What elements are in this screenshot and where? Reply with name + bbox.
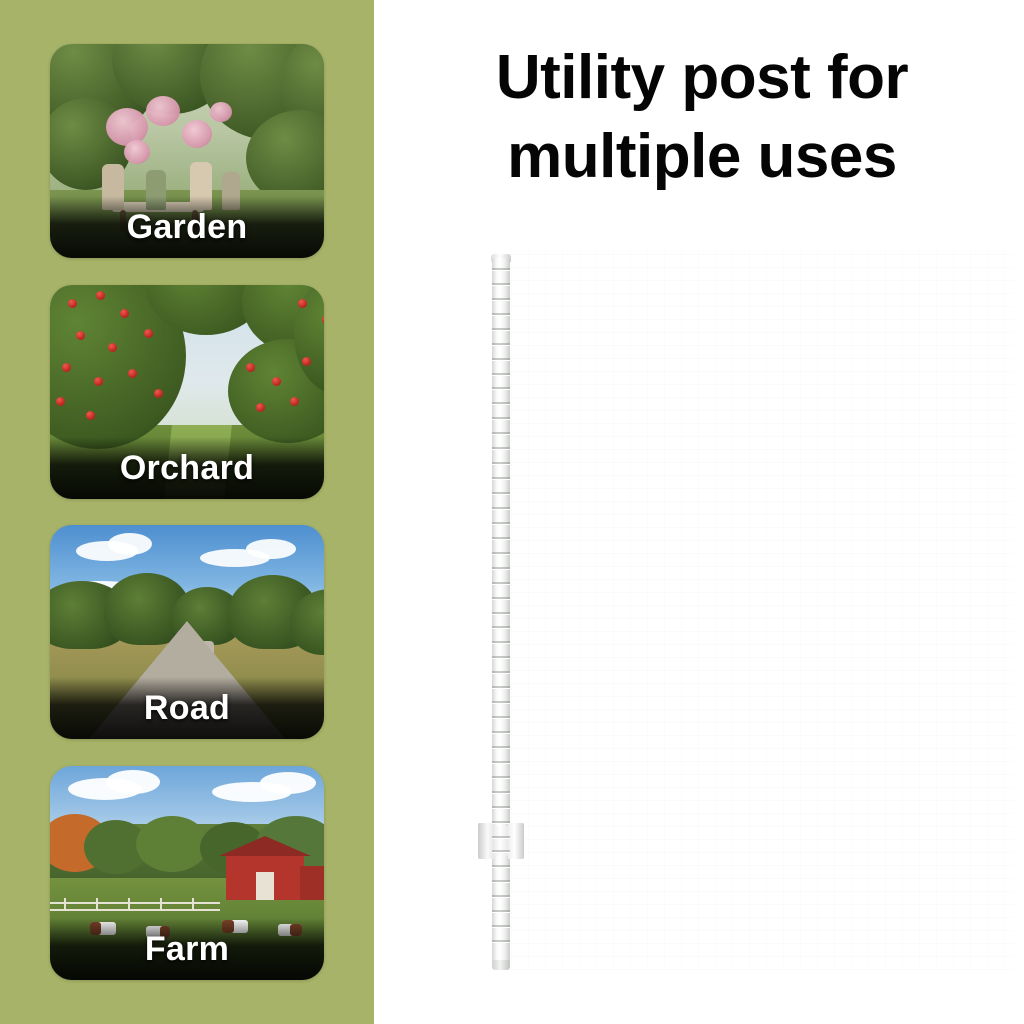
post-notch-highlight [492, 539, 510, 540]
post-notch-highlight [492, 524, 510, 525]
post-notch-highlight [492, 643, 510, 644]
post-notch-highlight [492, 599, 510, 600]
post-notch-highlight [492, 897, 510, 898]
post-notch-highlight [492, 808, 510, 809]
post-notch-highlight [492, 584, 510, 585]
post-notch-highlight [492, 733, 510, 734]
post-tip [492, 960, 510, 970]
post-notch-highlight [492, 614, 510, 615]
usage-gallery-panel: Garden [0, 0, 374, 1024]
post-notch-highlight [492, 554, 510, 555]
post-notch-highlight [492, 375, 510, 376]
post-notch-highlight [492, 494, 510, 495]
post-bracket-right [508, 823, 524, 859]
post-notch-highlight [492, 270, 510, 271]
gallery-card-orchard[interactable]: Orchard [50, 285, 324, 499]
post-notch-highlight [492, 838, 510, 839]
post-notch-highlight [492, 688, 510, 689]
post-notch-highlight [492, 300, 510, 301]
post-notch-highlight [492, 852, 510, 853]
gallery-card-road[interactable]: Road [50, 525, 324, 739]
post-notch-highlight [492, 778, 510, 779]
post-notch-highlight [492, 419, 510, 420]
post-notch-highlight [492, 927, 510, 928]
post-notch-highlight [492, 449, 510, 450]
post-notch-highlight [492, 345, 510, 346]
product-panel: Utility post for multiple uses [374, 0, 1024, 1024]
post-notch-highlight [492, 763, 510, 764]
post-notch-highlight [492, 315, 510, 316]
post-notch-highlight [492, 285, 510, 286]
post-notch-highlight [492, 628, 510, 629]
post-notch-highlight [492, 823, 510, 824]
post-notch-highlight [492, 703, 510, 704]
gallery-card-farm[interactable]: Farm [50, 766, 324, 980]
gallery-card-label: Garden [50, 196, 324, 258]
post-notch-highlight [492, 793, 510, 794]
post-notch-highlight [492, 360, 510, 361]
post-notch-highlight [492, 942, 510, 943]
post-notch-highlight [492, 673, 510, 674]
post-notch-highlight [492, 569, 510, 570]
post-notch-highlight [492, 748, 510, 749]
post-notch-highlight [492, 464, 510, 465]
post-notch-highlight [492, 509, 510, 510]
gallery-card-label: Farm [50, 918, 324, 980]
gallery-card-label: Orchard [50, 437, 324, 499]
post-notch-highlight [492, 658, 510, 659]
post-notch-highlight [492, 479, 510, 480]
post-notch-highlight [492, 330, 510, 331]
post-notch-highlight [492, 912, 510, 913]
gallery-card-label: Road [50, 677, 324, 739]
utility-post-image [374, 0, 1024, 1024]
post-notch-highlight [492, 389, 510, 390]
post-notch-highlight [492, 404, 510, 405]
product-infographic: Garden [0, 0, 1024, 1024]
post-notch-highlight [492, 434, 510, 435]
gallery-card-garden[interactable]: Garden [50, 44, 324, 258]
post-notch-highlight [492, 867, 510, 868]
post-notch-highlight [492, 882, 510, 883]
post-notch-highlight [492, 718, 510, 719]
post-bracket-left [478, 823, 494, 859]
